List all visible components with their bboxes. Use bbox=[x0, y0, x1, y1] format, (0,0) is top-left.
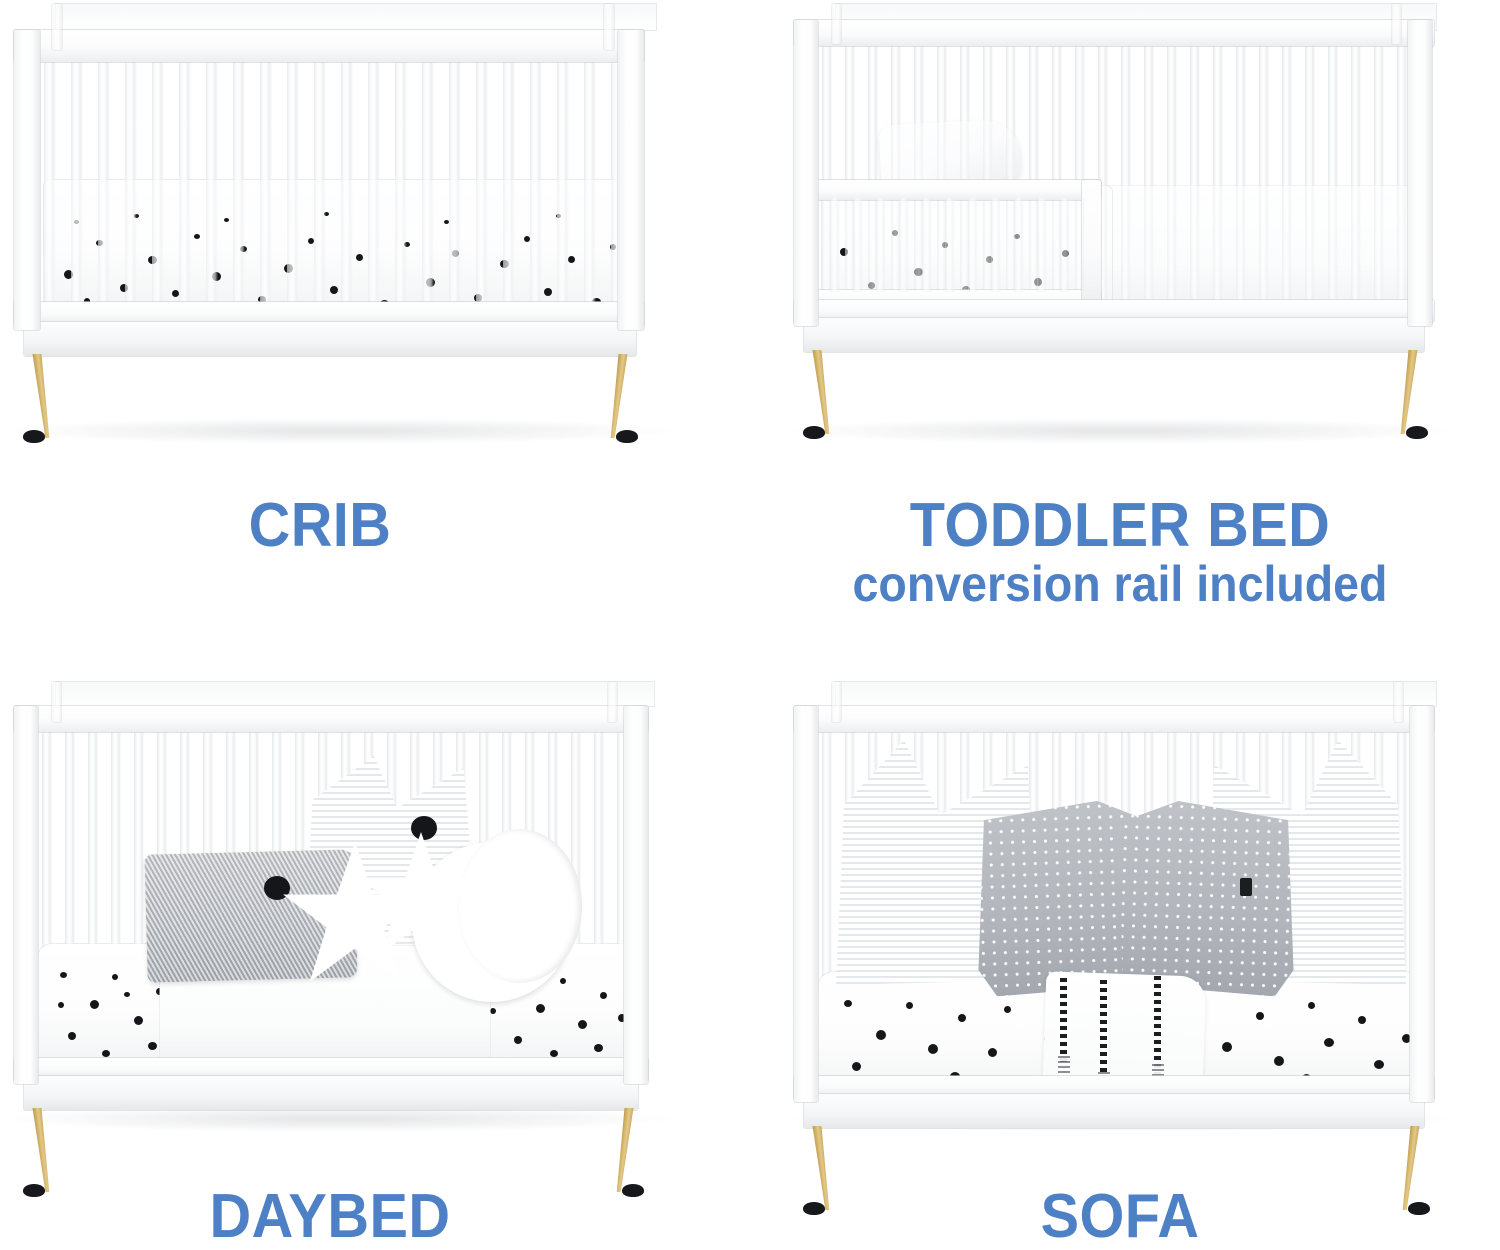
daybed-post-left bbox=[14, 706, 38, 1084]
toddler-leg-left bbox=[802, 350, 826, 436]
sofa-throw-stripe-3 bbox=[1154, 976, 1161, 1074]
panel-crib: CRIB bbox=[0, 0, 700, 470]
sofa-front-top-rail bbox=[794, 706, 1434, 732]
label-daybed: DAYBED bbox=[32, 1186, 627, 1248]
crib-foot-left bbox=[23, 430, 45, 443]
sofa-post-back-left bbox=[832, 682, 841, 722]
daybed-post-back-left bbox=[52, 682, 61, 722]
panel-toddler-bed: TODDLER BED conversion rail included bbox=[780, 0, 1500, 470]
toddler-foot-right bbox=[1406, 426, 1428, 439]
sofa-pillow-brand-tag bbox=[1240, 878, 1252, 896]
panel-daybed: DAYBED bbox=[0, 670, 700, 1150]
toddler-post-back-right bbox=[1392, 4, 1401, 44]
guardrail-slats bbox=[822, 198, 1084, 292]
product-configuration-collage: CRIB bbox=[0, 0, 1500, 1250]
crib-leg-left bbox=[22, 354, 46, 440]
daybed-illustration bbox=[8, 682, 668, 1132]
sofa-throw-stripe-2 bbox=[1100, 980, 1107, 1082]
crib-illustration bbox=[8, 4, 668, 444]
sofa-illustration bbox=[788, 682, 1458, 1132]
toddler-front-top-rail bbox=[794, 20, 1434, 46]
daybed-leg-left bbox=[22, 1108, 46, 1194]
daybed-post-back-right bbox=[608, 682, 617, 722]
toddler-bed-illustration bbox=[788, 4, 1458, 444]
crib-post-back-left bbox=[52, 4, 62, 50]
toddler-leg-right bbox=[1404, 350, 1428, 436]
crib-front-slat-overlay bbox=[34, 60, 642, 310]
toddler-base-skirt bbox=[804, 318, 1424, 352]
crib-post-right bbox=[618, 30, 644, 330]
crib-label-wrap: CRIB bbox=[0, 495, 640, 557]
crib-back-top-rail bbox=[56, 4, 656, 30]
crib-foot-right bbox=[616, 430, 638, 443]
sofa-throw-stripe-1 bbox=[1060, 978, 1067, 1064]
toddler-foot-left bbox=[803, 426, 825, 439]
daybed-post-right bbox=[624, 706, 648, 1084]
toddler-post-left bbox=[794, 20, 818, 326]
label-toddler-bed-sublabel: conversion rail included bbox=[767, 559, 1474, 609]
crib-post-left bbox=[14, 30, 40, 330]
guardrail-top-bar bbox=[816, 180, 1101, 200]
sofa-post-back-right bbox=[1394, 682, 1403, 722]
daybed-front-top-rail bbox=[14, 706, 648, 732]
label-sofa: SOFA bbox=[822, 1186, 1417, 1248]
toddler-post-right bbox=[1408, 20, 1432, 326]
sofa-post-left bbox=[794, 706, 818, 1102]
sofa-back-top-rail bbox=[836, 682, 1436, 706]
crib-front-top-rail bbox=[14, 30, 644, 62]
crib-post-back-right bbox=[604, 4, 614, 50]
crib-leg-right bbox=[614, 354, 638, 440]
guardrail-post-right bbox=[1082, 180, 1101, 308]
label-toddler-bed: TODDLER BED bbox=[767, 495, 1474, 557]
toddler-conversion-guard-rail bbox=[816, 180, 1101, 308]
panel-sofa: SOFA bbox=[780, 670, 1500, 1150]
sofa-base-skirt bbox=[804, 1094, 1424, 1128]
daybed-base-skirt bbox=[24, 1076, 638, 1110]
daybed-moon-pom-pom bbox=[411, 816, 437, 840]
daybed-label-wrap: DAYBED bbox=[10, 1186, 650, 1248]
sofa-post-right bbox=[1410, 706, 1434, 1102]
crib-base-skirt bbox=[24, 322, 636, 356]
daybed-back-top-rail bbox=[56, 682, 654, 706]
label-crib: CRIB bbox=[22, 495, 617, 557]
sofa-label-wrap: SOFA bbox=[800, 1186, 1440, 1248]
toddler-post-back-left bbox=[832, 4, 841, 44]
daybed-leg-right bbox=[620, 1108, 644, 1194]
toddler-label-wrap: TODDLER BED conversion rail included bbox=[740, 495, 1500, 609]
sofa-grey-pillow-right bbox=[1115, 799, 1300, 997]
